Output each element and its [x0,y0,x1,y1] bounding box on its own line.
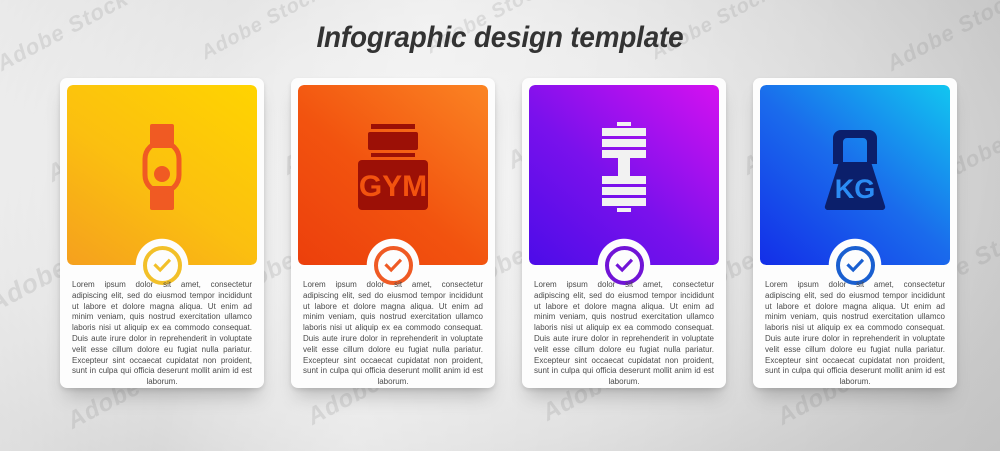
kettlebell-label: KG [835,174,876,204]
infographic-card[interactable]: KG Lorem ipsum dolor sit amet, consectet… [753,78,957,388]
check-badge-ring [143,246,182,285]
infographic-card[interactable]: Lorem ipsum dolor sit amet, consectetur … [60,78,264,388]
card-color-panel [67,85,257,265]
card-panel-wrap: KG [760,85,950,265]
check-icon [613,254,635,276]
card-body-text: Lorem ipsum dolor sit amet, consectetur … [534,280,714,388]
check-icon [382,254,404,276]
card-icon-holder: GYM [298,85,488,265]
card-body-text: Lorem ipsum dolor sit amet, consectetur … [765,280,945,388]
kettlebell-icon: KG [819,124,891,210]
card-row: Lorem ipsum dolor sit amet, consectetur … [60,78,960,393]
card-icon-holder [67,85,257,265]
card-color-panel: GYM [298,85,488,265]
supplement-bottle-icon: GYM [354,124,432,210]
card-color-panel: KG [760,85,950,265]
card-panel-wrap: GYM [298,85,488,265]
check-icon [151,254,173,276]
card-panel-wrap [67,85,257,265]
page-title: Infographic design template [35,21,965,55]
infographic-card[interactable]: Lorem ipsum dolor sit amet, consectetur … [522,78,726,388]
card-panel-wrap [529,85,719,265]
card-body-text: Lorem ipsum dolor sit amet, consectetur … [303,280,483,388]
check-icon [844,254,866,276]
infographic-card[interactable]: GYM Lorem ipsum dolor sit amet, consecte… [291,78,495,388]
card-body-text: Lorem ipsum dolor sit amet, consectetur … [72,280,252,388]
card-color-panel [529,85,719,265]
card-icon-holder: KG [760,85,950,265]
fitness-tracker-icon [136,124,188,210]
check-badge-ring [374,246,413,285]
check-badge-ring [836,246,875,285]
check-badge-ring [605,246,644,285]
infographic-canvas: Adobe Stock Adobe Stock Adobe Stock Adob… [0,0,1000,451]
card-icon-holder [529,85,719,265]
dumbbell-icon [595,122,653,212]
bottle-label: GYM [359,170,427,203]
